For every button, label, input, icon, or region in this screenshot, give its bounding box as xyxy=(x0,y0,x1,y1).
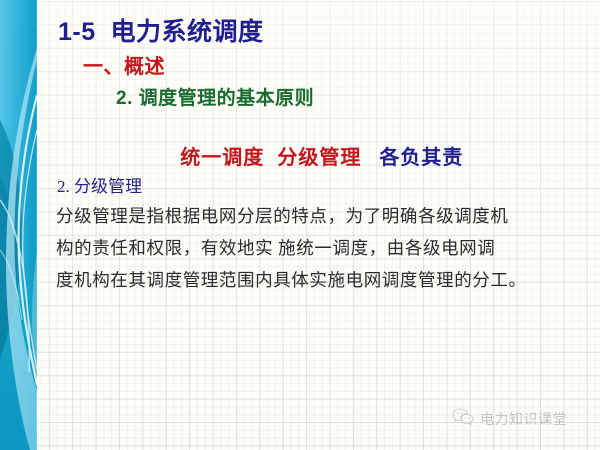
body-heading: 2. 分级管理 xyxy=(57,172,142,197)
watermark-label: 电力知识课堂 xyxy=(480,409,567,429)
principle-red-text: 统一调度 分级管理 xyxy=(180,147,361,169)
ribbon-edge-highlight xyxy=(36,0,38,450)
teal-ribbon-decoration xyxy=(0,0,38,450)
principle-blue-text: 各负其责 xyxy=(379,147,463,169)
body-paragraph-line: 构的责任和权限，有效地实 施统一调度，由各级电网调 xyxy=(56,232,586,264)
wechat-icon xyxy=(452,408,474,430)
subsection-label: 2. 调度管理的基本原则 xyxy=(116,83,314,110)
principle-statement: 统一调度 分级管理各负其责 xyxy=(154,118,463,193)
body-paragraph-line: 度机构在其调度管理范围内具体实施电网调度管理的分工。 xyxy=(56,264,586,296)
section-label: 一、概述 xyxy=(83,50,165,79)
page-title: 1-5 电力系统调度 xyxy=(58,12,264,48)
watermark: 电力知识课堂 xyxy=(452,408,567,430)
slide-canvas: 1-5 电力系统调度 一、概述 2. 调度管理的基本原则 统一调度 分级管理各负… xyxy=(0,0,600,450)
body-paragraph-line: 分级管理是指根据电网分层的特点，为了明确各级调度机 xyxy=(56,200,586,232)
body-paragraph: 分级管理是指根据电网分层的特点，为了明确各级调度机 构的责任和权限，有效地实 施… xyxy=(56,200,586,296)
